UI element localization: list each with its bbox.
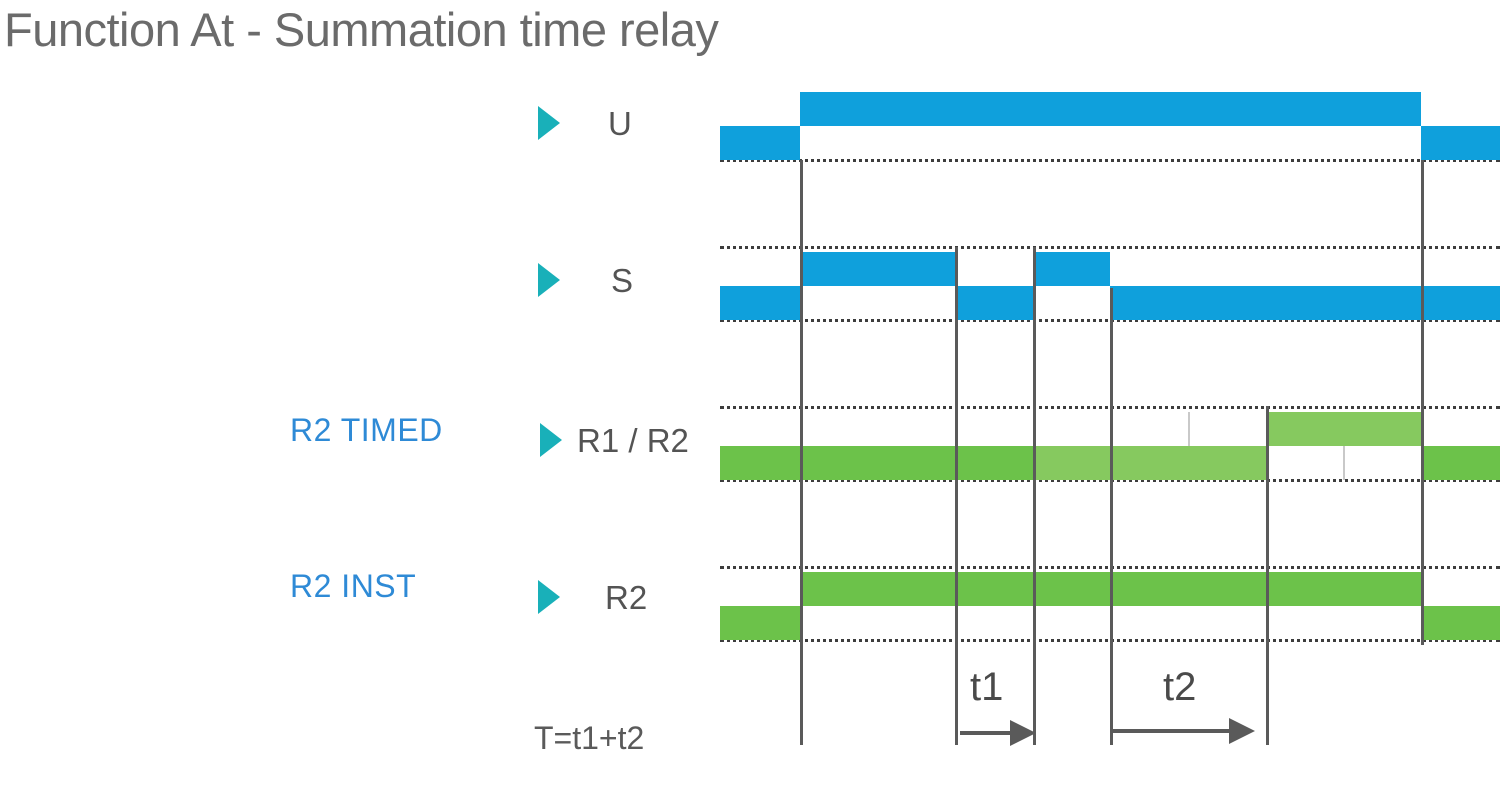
timing-diagram: R2 TIMED R2 INST U S R1 / R2 R2 <box>0 0 1500 794</box>
arrow-head-icon <box>1010 720 1036 746</box>
waveform-s-segment <box>800 252 955 286</box>
signal-name-r2: R2 <box>605 579 647 617</box>
mode-label-r2-timed: R2 TIMED <box>290 412 443 449</box>
waveform-r1r2-segment <box>1266 412 1421 446</box>
play-arrow-icon <box>540 423 562 457</box>
waveform-s-segment <box>1033 252 1110 286</box>
gridline-u-low <box>720 159 1500 162</box>
interval-label-t2: t2 <box>1163 665 1196 710</box>
time-marker-line <box>800 160 803 745</box>
waveform-r2-segment <box>1421 606 1500 640</box>
play-arrow-icon <box>538 106 560 140</box>
formula-total-time: T=t1+t2 <box>534 720 644 757</box>
interval-arrow-t2 <box>1113 729 1241 733</box>
arrow-head-icon <box>1229 718 1255 744</box>
gridline-s-high <box>720 246 1500 249</box>
waveform-r1r2-segment <box>1421 446 1500 480</box>
time-marker-line <box>1033 247 1036 745</box>
time-marker-tick <box>1188 412 1190 446</box>
time-marker-line <box>1266 406 1269 745</box>
waveform-r1r2-segment <box>1033 446 1266 480</box>
waveform-r2-segment <box>720 606 800 640</box>
signal-name-s: S <box>611 262 633 300</box>
play-arrow-icon <box>538 263 560 297</box>
time-marker-line <box>1421 160 1424 645</box>
waveform-u-segment <box>800 92 1421 126</box>
waveform-s-segment <box>720 286 800 320</box>
time-marker-tick <box>1343 446 1345 480</box>
signal-name-r1-r2: R1 / R2 <box>577 422 689 460</box>
waveform-s-segment <box>955 286 1033 320</box>
waveform-u-segment <box>1421 126 1500 160</box>
play-arrow-icon <box>538 580 560 614</box>
interval-label-t1: t1 <box>970 665 1003 710</box>
time-marker-line <box>1110 288 1113 745</box>
waveform-s-segment <box>1110 286 1500 320</box>
mode-label-r2-inst: R2 INST <box>290 568 416 605</box>
time-marker-line <box>955 247 958 745</box>
waveform-r1r2-segment <box>720 446 1033 480</box>
waveform-u-segment <box>720 126 800 160</box>
signal-name-u: U <box>608 105 632 143</box>
